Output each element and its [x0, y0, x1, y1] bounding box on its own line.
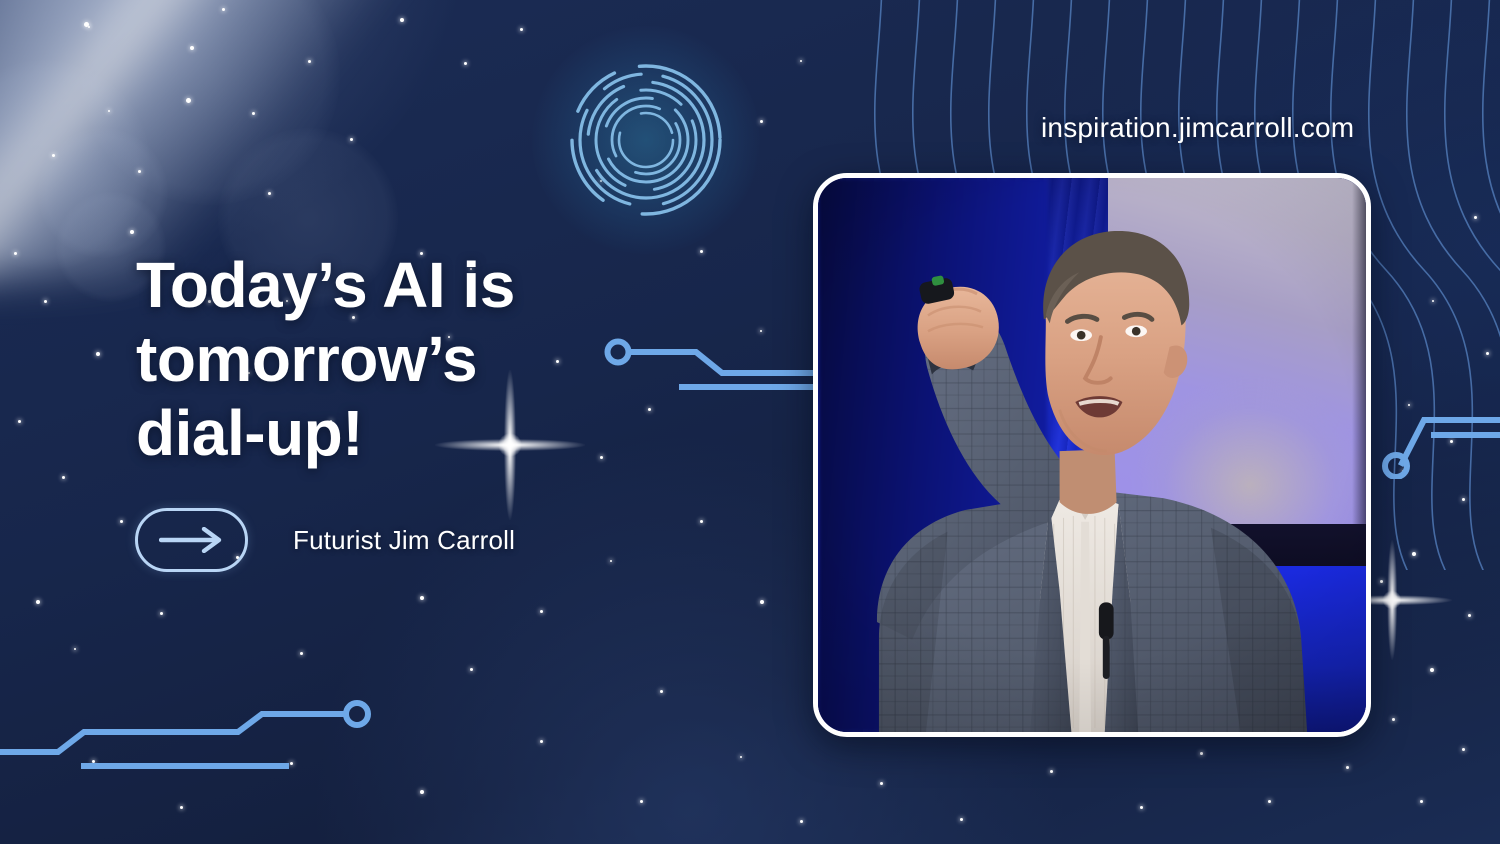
lens-flare-streak [0, 0, 430, 280]
site-url[interactable]: inspiration.jimcarroll.com [1041, 112, 1354, 144]
arrow-right-icon [159, 527, 225, 553]
concentric-dashed-rings-emblem [566, 60, 726, 220]
slide-canvas: inspiration.jimcarroll.com Today’s AI is… [0, 0, 1500, 844]
circuit-trace-bottom-left [0, 700, 390, 770]
speaker-photo-card [813, 173, 1371, 737]
byline-row: Futurist Jim Carroll [135, 508, 515, 572]
bokeh-circle [0, 60, 150, 270]
photo-vignette [818, 178, 1366, 732]
bokeh-circle [38, 128, 168, 258]
circuit-trace-middle [604, 330, 844, 400]
headline-line-3: dial-up! [136, 396, 606, 470]
page-title: Today’s AI is tomorrow’s dial-up! [136, 248, 606, 470]
byline-text: Futurist Jim Carroll [293, 525, 515, 556]
arrow-right-button[interactable] [135, 508, 248, 572]
headline-line-1: Today’s AI is [136, 248, 606, 322]
bokeh-circle [80, 0, 340, 205]
circuit-trace-right [1380, 395, 1500, 479]
headline-line-2: tomorrow’s [136, 322, 606, 396]
speaker-photo [818, 178, 1366, 732]
